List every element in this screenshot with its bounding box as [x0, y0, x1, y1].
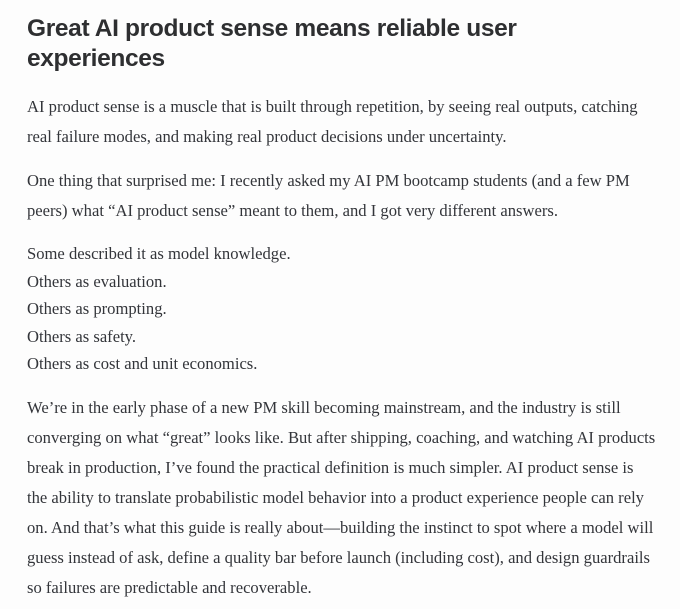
intro-paragraph: AI product sense is a muscle that is bui…	[27, 92, 656, 152]
list-item: Others as safety.	[27, 323, 656, 351]
page-title: Great AI product sense means reliable us…	[27, 14, 627, 74]
closing-paragraph: We’re in the early phase of a new PM ski…	[27, 393, 656, 603]
list-item: Some described it as model knowledge.	[27, 240, 656, 268]
list-item: Others as prompting.	[27, 295, 656, 323]
survey-paragraph: One thing that surprised me: I recently …	[27, 166, 656, 226]
list-item: Others as cost and unit economics.	[27, 350, 656, 378]
list-item: Others as evaluation.	[27, 268, 656, 296]
article-container: Great AI product sense means reliable us…	[0, 0, 680, 609]
statement-list: Some described it as model knowledge. Ot…	[27, 240, 656, 378]
